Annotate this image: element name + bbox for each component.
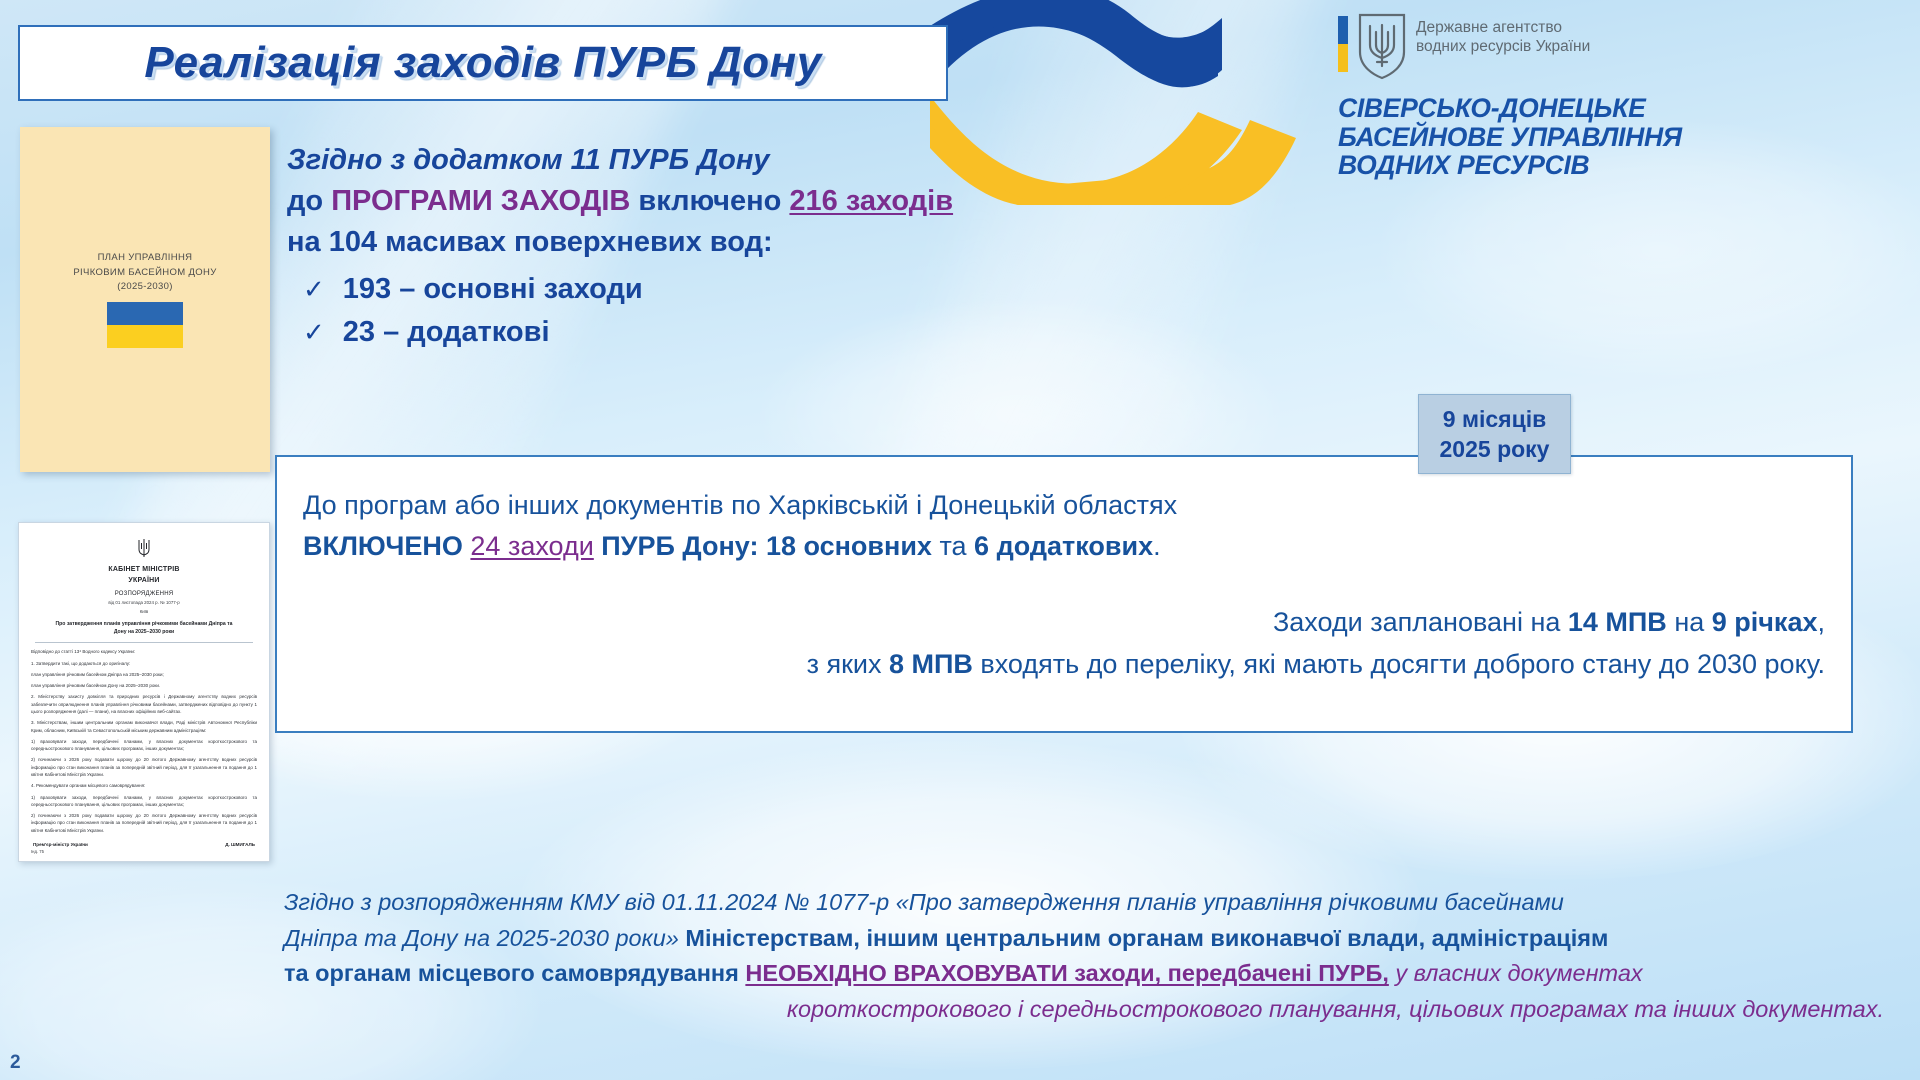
doc-cover-line3: (2025-2030)	[117, 280, 173, 295]
card-p2-line2-rest: входять до переліку, які мають досягти д…	[973, 649, 1825, 679]
doc-page-paragraph: 3. Міністерствам, іншим центральним орга…	[31, 719, 257, 734]
document-cover-thumbnail: ПЛАН УПРАВЛІННЯ РІЧКОВИМ БАСЕЙНОМ ДОНУ (…	[20, 127, 270, 472]
organization-logo-block: Державне агентство водних ресурсів Украї…	[1338, 12, 1913, 180]
organization-name: СІВЕРСЬКО-ДОНЕЦЬКЕ БАСЕЙНОВЕ УПРАВЛІННЯ …	[1338, 94, 1913, 180]
agency-name: Державне агентство водних ресурсів Украї…	[1416, 12, 1590, 57]
doc-page-title: Про затвердження планів управління річко…	[31, 621, 257, 636]
tryzub-emblem-icon	[1356, 12, 1408, 80]
card-p2-prefix: Заходи заплановані на	[1273, 607, 1568, 637]
card-mpv-subset: 8 МПВ	[889, 649, 973, 679]
badge-line-2: 2025 року	[1440, 434, 1550, 464]
doc-page-subtitle: РОЗПОРЯДЖЕННЯ	[31, 591, 257, 597]
intro-bullet-list: ✓193 – основні заходи✓23 – додаткові	[287, 268, 1067, 355]
page-title: Реалізація заходів ПУРБ Дону	[144, 38, 821, 88]
period-badge: 9 місяців 2025 року	[1418, 394, 1571, 474]
footer-line3-bold: та органам місцевого самоврядування	[284, 960, 745, 986]
doc-cover-line2: РІЧКОВИМ БАСЕЙНОМ ДОНУ	[73, 266, 216, 281]
intro-line-3: на 104 масивах поверхневих вод:	[287, 222, 1067, 263]
card-p2-line2-prefix: з яких	[807, 649, 889, 679]
card-included-label: ВКЛЮЧЕНО	[303, 531, 470, 561]
intro-line-1: Згідно з додатком 11 ПУРБ Дону	[287, 140, 1067, 181]
doc-page-sign-name: Д. ШМИГАЛЬ	[225, 842, 255, 847]
footer-line-3: та органам місцевого самоврядування НЕОБ…	[284, 956, 1884, 992]
footer-line2-bold: Міністерствам, іншим центральним органам…	[679, 925, 1608, 951]
org-name-line3: ВОДНИХ РЕСУРСІВ	[1338, 151, 1913, 180]
footer-mandatory-highlight: НЕОБХІДНО ВРАХОВУВАТИ заходи, передбачен…	[745, 960, 1389, 986]
card-additional-measures: 6 додаткових	[974, 531, 1153, 561]
badge-line-1: 9 місяців	[1443, 404, 1546, 434]
intro-line-2: до ПРОГРАМИ ЗАХОДІВ включено 216 заходів	[287, 181, 1067, 222]
slide-number: 2	[10, 1052, 21, 1074]
document-page-thumbnail: КАБІНЕТ МІНІСТРІВ УКРАЇНИ РОЗПОРЯДЖЕННЯ …	[18, 522, 270, 862]
doc-page-sign-role: Прем'єр-міністр України	[33, 842, 88, 847]
doc-page-paragraph: 1. Затвердити такі, що додаються до ориг…	[31, 660, 257, 667]
doc-page-paragraph: план управління річковим басейном Дону н…	[31, 682, 257, 689]
doc-page-head2: УКРАЇНИ	[31, 576, 257, 587]
agency-name-line1: Державне агентство	[1416, 18, 1590, 37]
intro-line2-prefix: до	[287, 185, 331, 217]
org-name-line2: БАСЕЙНОВЕ УПРАВЛІННЯ	[1338, 123, 1913, 152]
agency-name-line2: водних ресурсів України	[1416, 37, 1590, 56]
check-icon: ✓	[303, 270, 325, 309]
check-icon: ✓	[303, 313, 325, 352]
org-name-line1: СІВЕРСЬКО-ДОНЕЦЬКЕ	[1338, 94, 1913, 123]
intro-text-block: Згідно з додатком 11 ПУРБ Дону до ПРОГРА…	[287, 140, 1067, 355]
footer-line-4: короткострокового і середньострокового п…	[284, 992, 1884, 1028]
intro-line2-mid: включено	[630, 185, 789, 217]
footer-paragraph: Згідно з розпорядженням КМУ від 01.11.20…	[284, 885, 1884, 1028]
doc-page-paragraph: план управління річковим басейном Дніпра…	[31, 671, 257, 678]
ukraine-flag-icon	[107, 302, 183, 348]
info-card: До програм або інших документів по Харкі…	[275, 455, 1853, 733]
intro-program-highlight: ПРОГРАМИ ЗАХОДІВ	[331, 185, 630, 217]
doc-page-paragraph: 2) починаючи з 2026 року подавати щороку…	[31, 756, 257, 778]
tryzub-small-icon	[134, 535, 154, 561]
card-mpv-count: 14 МПВ	[1568, 607, 1667, 637]
ukraine-flag-bar-icon	[1338, 16, 1348, 72]
doc-page-city: Київ	[31, 609, 257, 614]
footer-line-2: Дніпра та Дону на 2025-2030 роки» Мініст…	[284, 921, 1884, 957]
doc-cover-line1: ПЛАН УПРАВЛІННЯ	[98, 251, 193, 266]
doc-page-divider	[35, 642, 253, 643]
card-p2-mid: на	[1667, 607, 1712, 637]
doc-page-index: Інд. 75	[31, 849, 257, 854]
intro-bullet-label: 193 – основні заходи	[343, 268, 643, 312]
doc-page-paragraph: Відповідно до статті 13⁴ Водного кодексу…	[31, 648, 257, 655]
doc-page-date: від 01 листопада 2024 р. № 1077-р	[31, 600, 257, 605]
intro-bullet-item: ✓193 – основні заходи	[287, 268, 1067, 312]
doc-page-paragraph: 2) починаючи з 2026 року подавати щороку…	[31, 812, 257, 834]
doc-page-signature: Прем'єр-міністр України Д. ШМИГАЛЬ	[31, 842, 257, 847]
doc-page-head1: КАБІНЕТ МІНІСТРІВ	[31, 565, 257, 576]
footer-line3-tail: у власних документах	[1389, 960, 1643, 986]
doc-page-paragraph: 1) враховувати заходи, передбачені плана…	[31, 738, 257, 753]
doc-page-paragraph: 1) враховувати заходи, передбачені плана…	[31, 794, 257, 809]
doc-page-paragraph: 2. Міністерству захисту довкілля та прир…	[31, 693, 257, 715]
slide-title-bar: Реалізація заходів ПУРБ Дону	[18, 25, 948, 101]
card-p1-mid: ПУРБ Дону:	[594, 531, 766, 561]
card-paragraph-2: Заходи заплановані на 14 МПВ на 9 річках…	[357, 602, 1825, 686]
card-p2-comma: ,	[1817, 607, 1825, 637]
intro-bullet-item: ✓23 – додаткові	[287, 311, 1067, 355]
card-p1-period: .	[1153, 531, 1161, 561]
doc-page-body: Відповідно до статті 13⁴ Водного кодексу…	[31, 648, 257, 834]
card-measures-count: 24 заходи	[470, 531, 593, 561]
doc-page-paragraph: 4. Рекомендувати органам місцевого самов…	[31, 782, 257, 789]
footer-line-1: Згідно з розпорядженням КМУ від 01.11.20…	[284, 885, 1884, 921]
card-p1-line1: До програм або інших документів по Харкі…	[303, 490, 1177, 520]
intro-measures-count: 216 заходів	[789, 185, 953, 217]
card-p1-conj: та	[932, 531, 974, 561]
card-rivers-count: 9 річках	[1712, 607, 1818, 637]
agency-row: Державне агентство водних ресурсів Украї…	[1338, 12, 1913, 80]
card-paragraph-1: До програм або інших документів по Харкі…	[303, 485, 1825, 566]
footer-line2-italic: Дніпра та Дону на 2025-2030 роки»	[284, 925, 679, 951]
intro-bullet-label: 23 – додаткові	[343, 311, 550, 355]
card-main-measures: 18 основних	[766, 531, 932, 561]
